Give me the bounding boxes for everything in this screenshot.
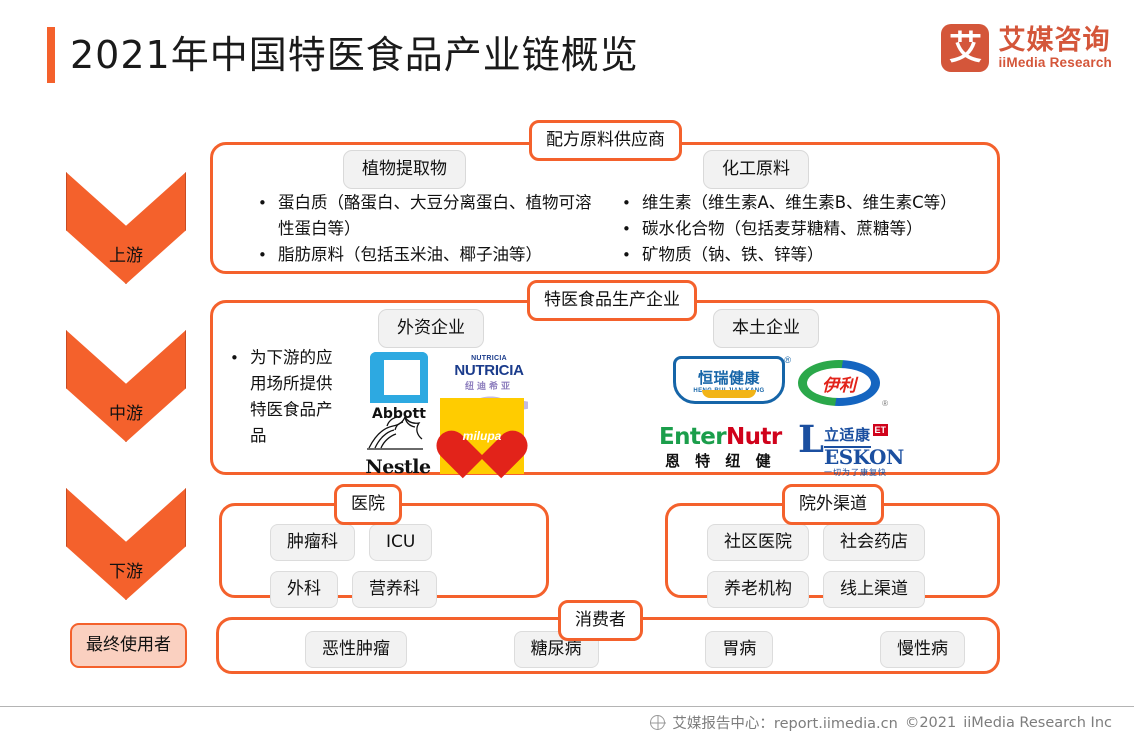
leskon-slogan: 一切为了康复快: [824, 467, 904, 478]
midstream-subtag-foreign[interactable]: 外资企业: [378, 309, 484, 348]
chip-community-hospital[interactable]: 社区医院: [707, 524, 809, 561]
chip-pharmacy[interactable]: 社会药店: [823, 524, 925, 561]
nutricia-cn-text: 纽迪希亚: [465, 379, 513, 392]
enternutr-cn: 恩 特 纽 健: [659, 450, 782, 471]
milupa-heart-icon: milupa: [454, 411, 510, 461]
upstream-subtag-plant[interactable]: 植物提取物: [343, 150, 466, 189]
offsite-tag[interactable]: 院外渠道: [782, 484, 884, 525]
chip-oncology[interactable]: 肿瘤科: [270, 524, 355, 561]
chip-surgery[interactable]: 外科: [270, 571, 338, 608]
consumer-tag[interactable]: 消费者: [558, 600, 643, 641]
globe-icon: [650, 715, 665, 730]
chevron-label-downstream: 下游: [66, 557, 186, 582]
final-user-badge[interactable]: 最终使用者: [70, 623, 187, 668]
nestle-bird-icon: [361, 404, 435, 456]
abbott-mark-icon: [370, 352, 428, 403]
registered-icon: ®: [882, 399, 888, 408]
registered-icon: ®: [784, 355, 791, 365]
list-item: 为下游的应用场所提供特医食品产品: [228, 345, 338, 449]
enternutr-en-second: Nutr: [726, 424, 782, 450]
list-item: 矿物质（钠、铁、锌等）: [620, 242, 992, 268]
brand-name-cn: 艾媒咨询: [998, 26, 1112, 55]
milupa-caption: milupa: [454, 429, 510, 443]
chip-nutrition[interactable]: 营养科: [352, 571, 437, 608]
chevron-shape-icon: [66, 488, 186, 600]
hengrui-cn: 恒瑞健康: [698, 367, 760, 388]
chip-stomach-disease[interactable]: 胃病: [705, 631, 773, 668]
chevron-midstream: 中游: [66, 330, 186, 442]
title-accent-bar: [47, 27, 55, 83]
footer-divider: [0, 706, 1134, 707]
nutricia-main-text: NUTRICIA: [454, 362, 523, 379]
footer-copyright: ©2021: [905, 715, 956, 731]
hengrui-smile-icon: [702, 390, 756, 398]
chevron-shape-icon: [66, 330, 186, 442]
nestle-logo: Nestle: [358, 410, 438, 472]
leskon-badge: ET: [873, 424, 889, 436]
upstream-subtag-chemical[interactable]: 化工原料: [703, 150, 809, 189]
page-title: 2021年中国特医食品产业链概览: [70, 29, 639, 81]
midstream-tag[interactable]: 特医食品生产企业: [527, 280, 697, 321]
chip-malignant-tumor[interactable]: 恶性肿瘤: [305, 631, 407, 668]
offsite-chip-group: 社区医院 社会药店 养老机构 线上渠道: [707, 524, 969, 608]
enternutr-logo: EnterNutr 恩 特 纽 健: [659, 424, 782, 471]
yili-logo: 伊利 ®: [798, 360, 880, 406]
list-item: 碳水化合物（包括麦芽糖精、蔗糖等）: [620, 216, 992, 242]
leskon-logo: L 立适康 ET ESKON 一切为了康复快: [798, 424, 904, 478]
nutricia-top-text: NUTRICIA: [471, 355, 507, 362]
chevron-shape-icon: [66, 172, 186, 284]
midstream-subtag-domestic[interactable]: 本土企业: [713, 309, 819, 348]
footer: 艾媒报告中心：report.iimedia.cn ©2021 iiMedia R…: [650, 712, 1112, 733]
list-item: 维生素（维生素A、维生素B、维生素C等）: [620, 190, 992, 216]
chip-online-channel[interactable]: 线上渠道: [823, 571, 925, 608]
hospital-tag[interactable]: 医院: [334, 484, 402, 525]
brand-mark-icon: 艾: [941, 24, 989, 72]
brand-logo: 艾 艾媒咨询 iiMedia Research: [941, 24, 1112, 72]
leskon-en: ESKON: [824, 448, 904, 467]
milupa-logo: milupa: [440, 398, 524, 474]
chip-elderly-care[interactable]: 养老机构: [707, 571, 809, 608]
chevron-upstream: 上游: [66, 172, 186, 284]
leskon-initial: L: [798, 424, 824, 454]
chip-chronic-disease[interactable]: 慢性病: [880, 631, 965, 668]
upstream-bullets-right: 维生素（维生素A、维生素B、维生素C等） 碳水化合物（包括麦芽糖精、蔗糖等） 矿…: [620, 190, 992, 268]
nestle-caption: Nestle: [365, 456, 430, 478]
list-item: 脂肪原料（包括玉米油、椰子油等）: [256, 242, 606, 268]
hengrui-logo: ® 恒瑞健康 HENG RUI JIAN KANG: [673, 356, 785, 404]
chevron-downstream: 下游: [66, 488, 186, 600]
upstream-bullets-left: 蛋白质（酪蛋白、大豆分离蛋白、植物可溶性蛋白等） 脂肪原料（包括玉米油、椰子油等…: [256, 190, 606, 268]
enternutr-en-first: Enter: [659, 424, 726, 450]
upstream-tag[interactable]: 配方原料供应商: [529, 120, 682, 161]
list-item: 蛋白质（酪蛋白、大豆分离蛋白、植物可溶性蛋白等）: [256, 190, 606, 242]
brand-name-en: iiMedia Research: [998, 55, 1112, 71]
midstream-bullets: 为下游的应用场所提供特医食品产品: [228, 345, 338, 449]
yili-cn: 伊利: [807, 368, 871, 398]
yili-oval-icon: 伊利 ®: [798, 360, 880, 406]
footer-company: iiMedia Research Inc: [963, 715, 1112, 731]
chevron-label-midstream: 中游: [66, 399, 186, 424]
hospital-chip-group: 肿瘤科 ICU 外科 营养科: [270, 524, 490, 608]
chevron-label-upstream: 上游: [66, 241, 186, 266]
hengrui-shield-icon: ® 恒瑞健康 HENG RUI JIAN KANG: [673, 356, 785, 404]
chip-icu[interactable]: ICU: [369, 524, 432, 561]
footer-site[interactable]: 艾媒报告中心：report.iimedia.cn: [672, 712, 897, 733]
slide-canvas: 2021年中国特医食品产业链概览 艾 艾媒咨询 iiMedia Research…: [0, 0, 1134, 737]
